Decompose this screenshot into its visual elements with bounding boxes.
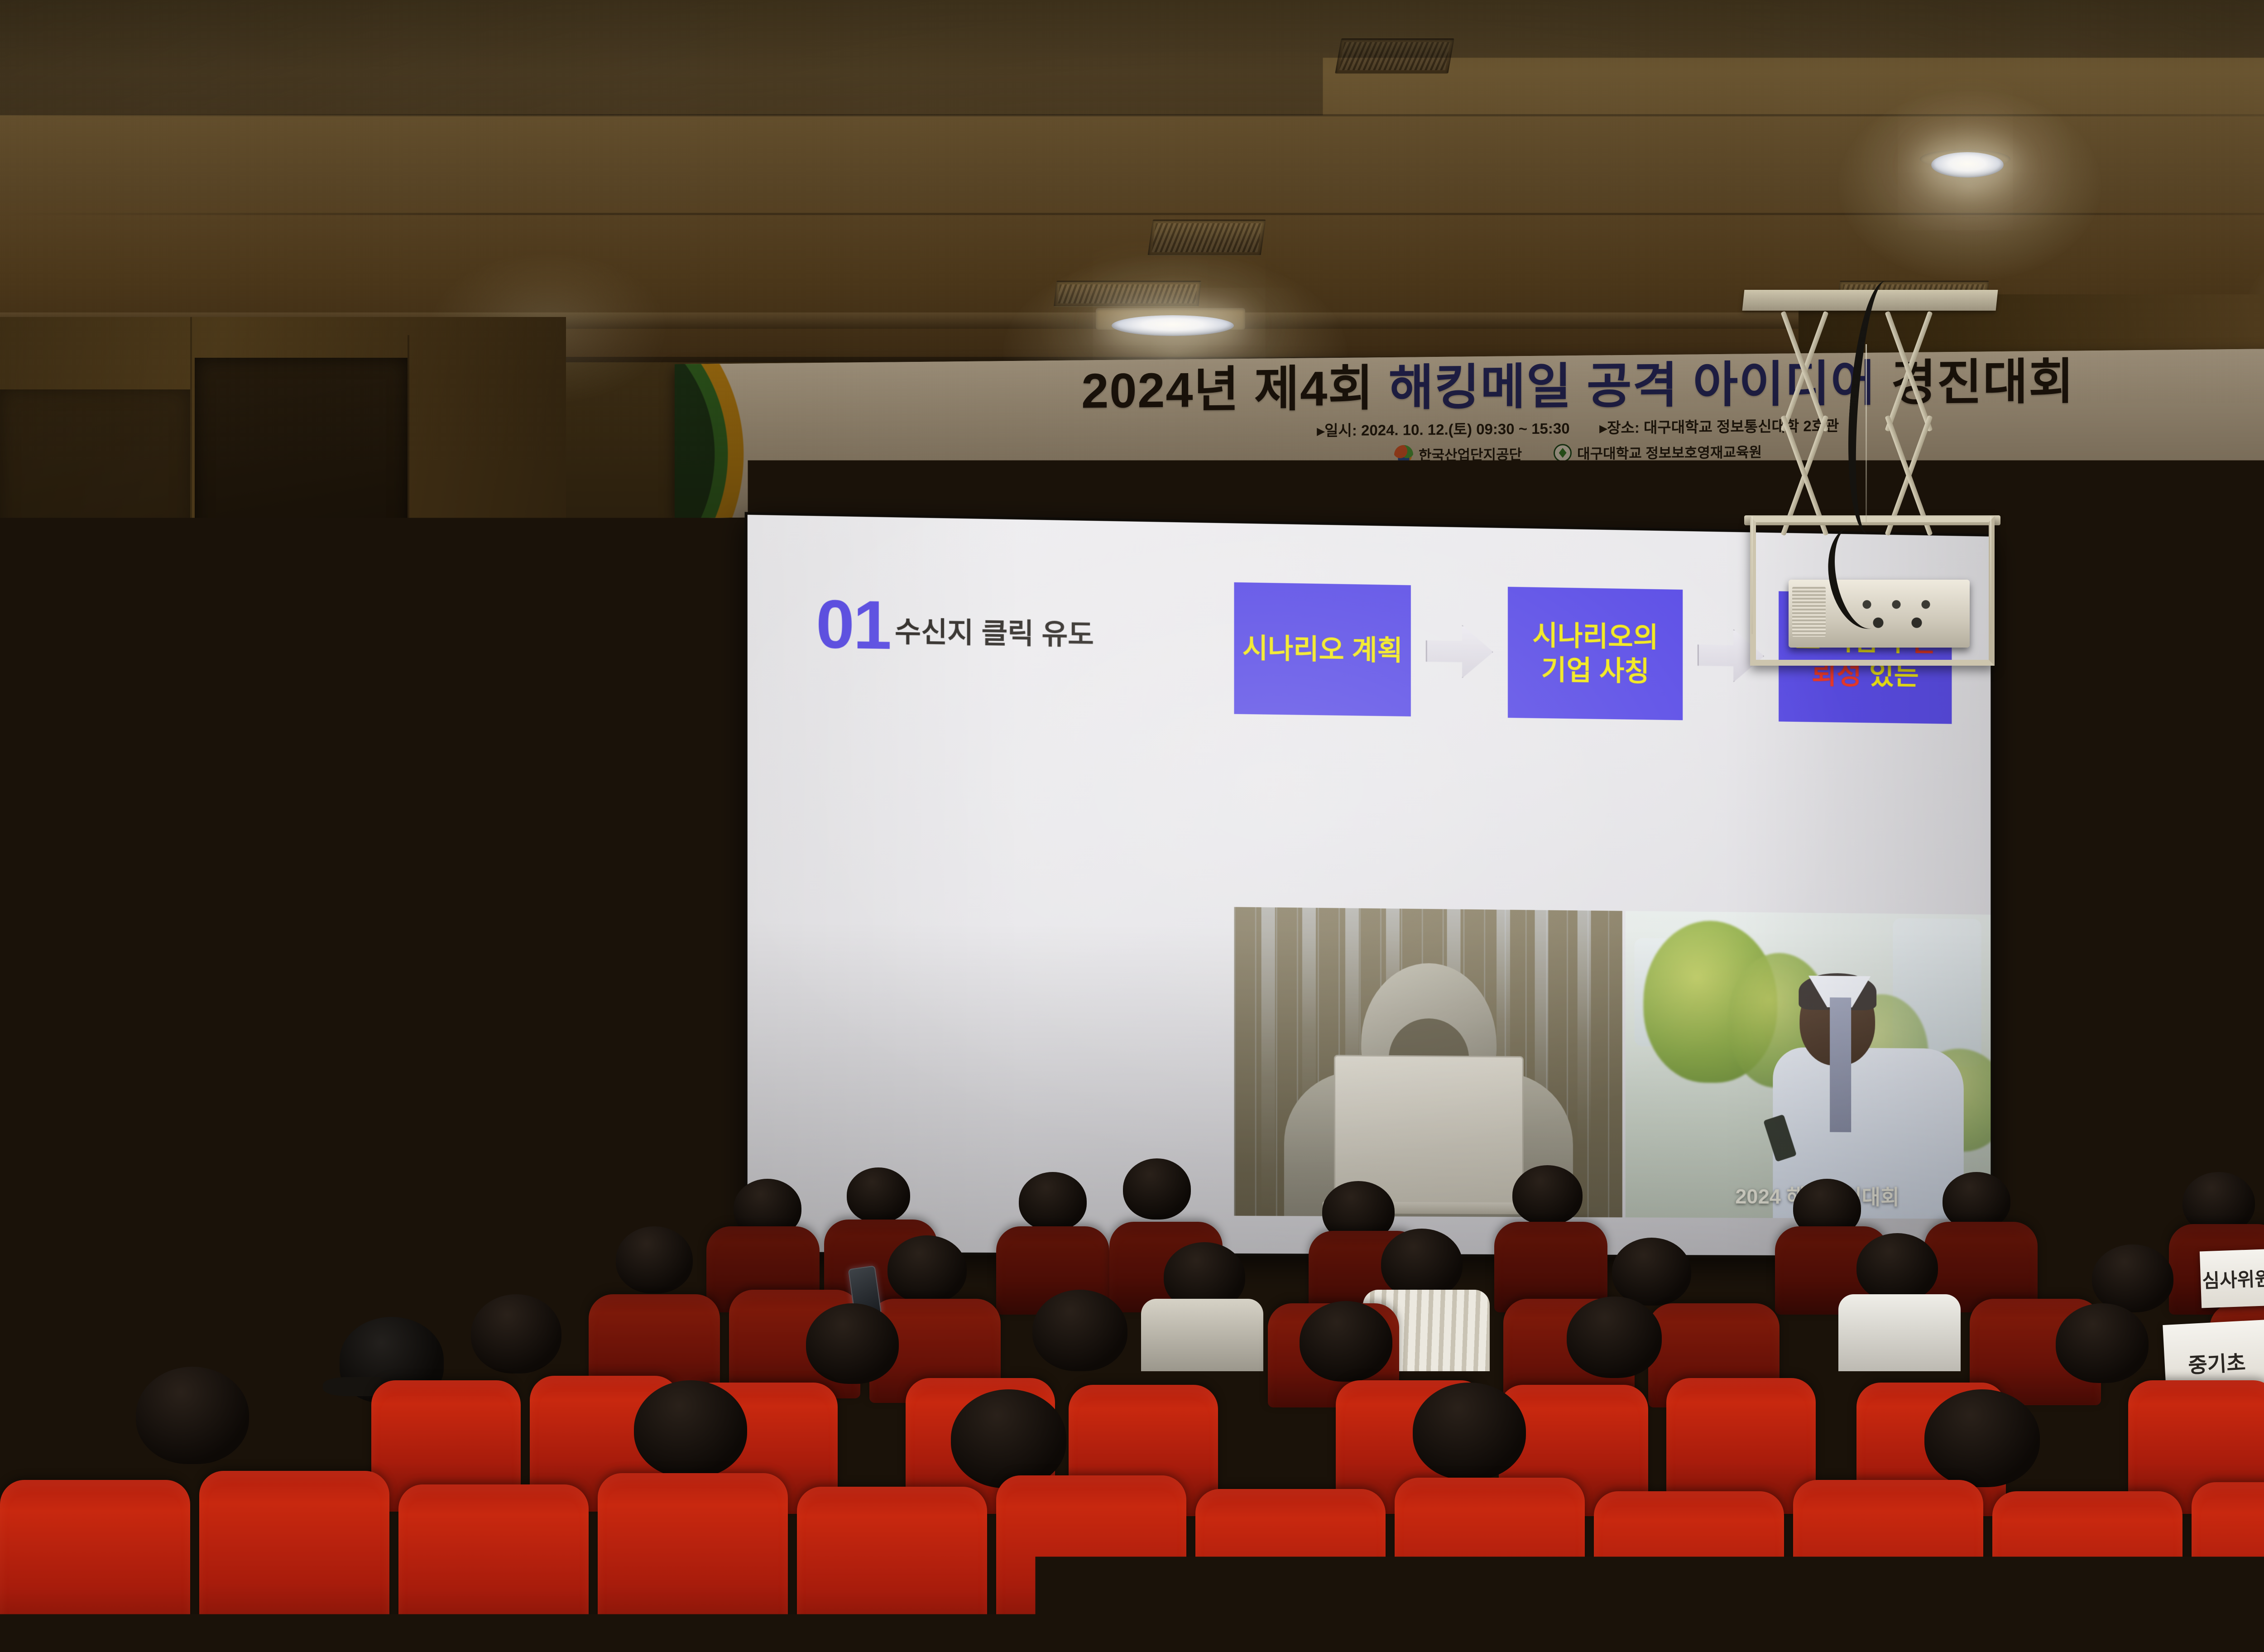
audience-torso [1141,1299,1263,1371]
banner-title-part-1: 2024년 제4회 [1081,360,1388,418]
audience-head [1612,1238,1691,1306]
slide-heading: 01 수신지 클릭 유도 [816,596,1094,656]
seat-sign-judges: 심사위원석 [2200,1249,2264,1308]
audience-head [1413,1383,1526,1480]
seat-sign-secondary-label: 중기초 [2187,1346,2246,1379]
seat [1594,1491,1784,1652]
flow-box-2-line-1: 시나리오의 [1532,620,1658,653]
ceiling-seam [0,114,2264,116]
audience-head [1567,1297,1662,1378]
seat [2192,1482,2264,1652]
seat [1395,1478,1585,1652]
wall-seam [0,706,566,708]
ceiling-vent [1335,38,1454,74]
sponsor-kicox: 한국산업단지공단 [1394,443,1522,465]
ceiling-lamp [1931,152,2004,178]
seat [1195,1489,1386,1652]
flow-box-1-line-1: 시나리오 계획 [1242,633,1403,666]
wall-acoustic-panel [195,358,408,625]
audience-torso [1838,1294,1961,1371]
ceiling-vent [1147,220,1266,256]
wall-recess [2101,659,2173,763]
audience-seating: 심사위원석 중기초 [0,1154,2264,1652]
rig-hanger-wire [1990,516,1991,634]
ceiling-projector-rig [1734,290,2015,679]
seat [0,1480,190,1652]
banner-logo-row: 한국산업단지공단 대구대학교 정보보호영재교육원 [1394,441,1762,465]
seat [996,1475,1186,1652]
audience-head [1924,1389,2040,1487]
audience-head [1512,1165,1583,1225]
ceiling-vent [1054,281,1201,307]
audience-head [471,1294,561,1373]
audience-head [2056,1303,2149,1383]
kicox-logo-icon [1394,445,1413,464]
flow-box-2: 시나리오의기업 사칭 [1508,587,1683,720]
daegu-university-emblem-icon [1554,444,1572,462]
seat-sign-judges-label: 심사위원석 [2202,1263,2264,1294]
microphone-body [575,1053,584,1089]
audience-head [847,1167,910,1223]
arrow-right-icon [1425,624,1493,679]
audience-head [1123,1158,1191,1220]
flow-box-2-line-2: 기업 사칭 [1541,654,1650,687]
audience-head [616,1226,693,1293]
rig-hanger-wire [1866,344,1867,525]
slide-number: 01 [816,596,890,653]
event-banner: 2024년 제4회 해킹메일 공격 아이디어 경진대회 ▸일시: 2024. 1… [675,347,2264,518]
wall-acoustic-panel [0,389,190,643]
audience-head [634,1380,747,1478]
wall-seam [2092,408,2094,1268]
seat [398,1484,589,1652]
presenter-script [593,1033,661,1101]
sponsor-daegu-university: 대구대학교 정보보호영재교육원 [1554,441,1762,463]
seat [199,1471,389,1652]
seat [797,1487,987,1652]
rig-hanger-wire [1751,516,1753,634]
audience-head [1019,1172,1087,1231]
audience-head [951,1389,1066,1488]
flow-box-1: 시나리오 계획 [1234,582,1410,716]
audience-head [1943,1172,2010,1230]
seat [1793,1480,1983,1652]
sponsor-kicox-label: 한국산업단지공단 [1419,443,1522,464]
banner-date: ▸일시: 2024. 10. 12.(토) 09:30 ~ 15:30 [1317,416,1570,440]
daegu-university-emblem-icon [195,1089,238,1140]
audience-head [1381,1229,1463,1299]
ceiling-seam [0,213,2264,215]
audience-head [2092,1244,2173,1312]
audience-head [1300,1301,1392,1382]
seat [1992,1491,2182,1652]
screenshot-root: 2024년 제4회 해킹메일 공격 아이디어 경진대회 ▸일시: 2024. 1… [0,0,2264,1652]
seat [598,1473,788,1652]
audience-head [806,1303,899,1384]
audience-head [1856,1233,1938,1302]
audience-head [1032,1290,1127,1371]
audience-head [887,1235,967,1303]
audience-head [136,1367,249,1464]
slide-subtitle: 수신지 클릭 유도 [895,609,1094,656]
flow-arrow-1 [1411,585,1508,718]
ceiling-lamp [1112,315,1234,336]
